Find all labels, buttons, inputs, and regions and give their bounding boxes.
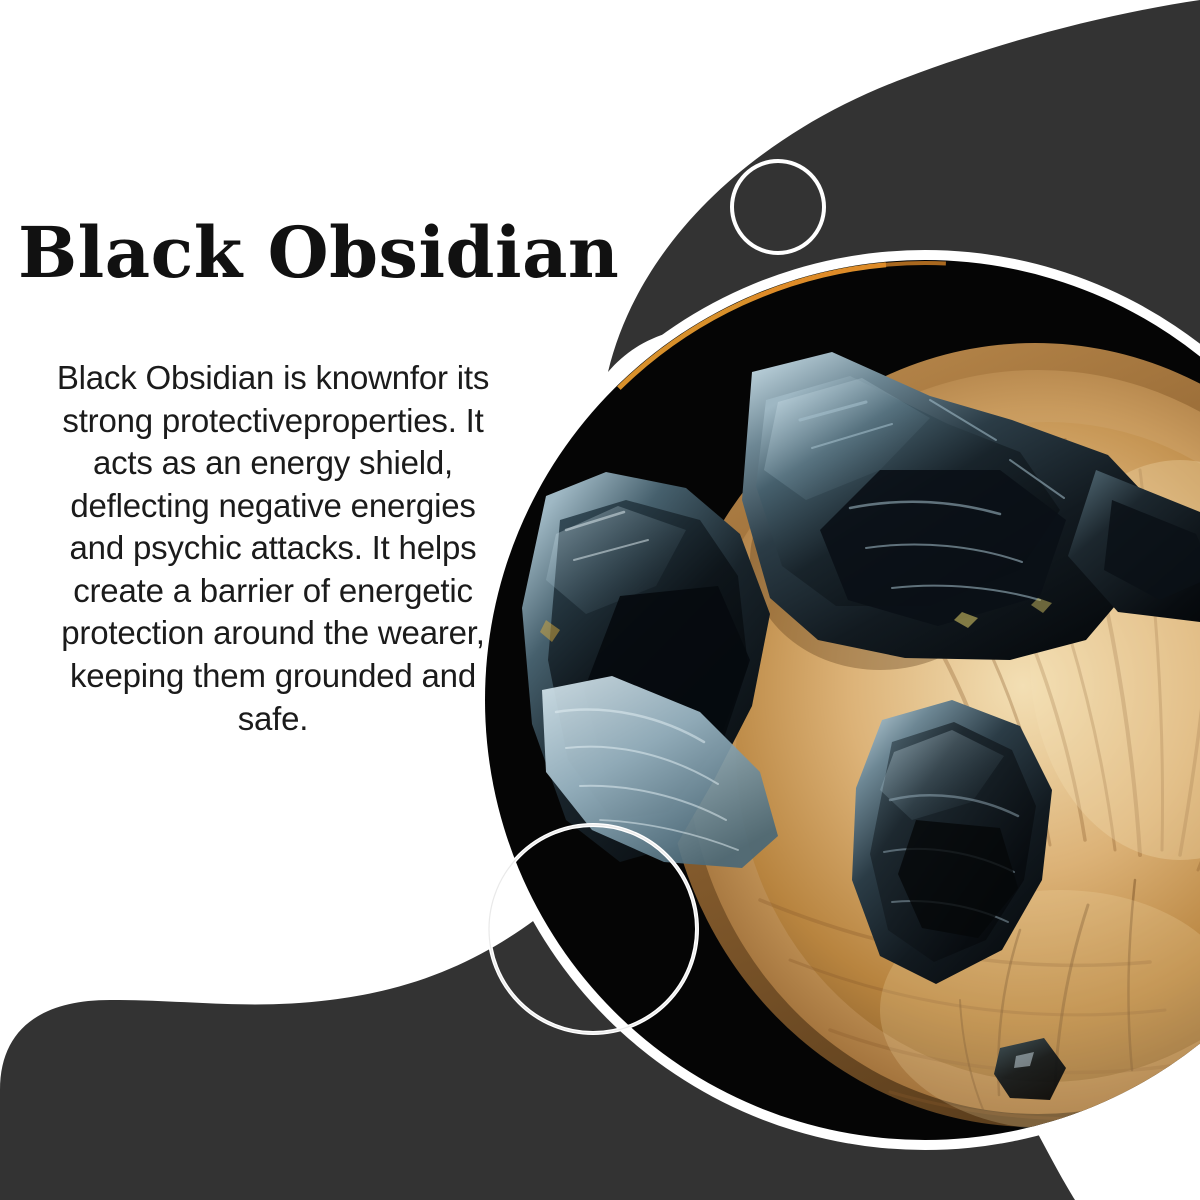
ring-outline-small — [732, 161, 824, 253]
obsidian-stone-left — [522, 472, 778, 868]
photo-rim-accent — [488, 263, 1200, 1137]
page-title: Black Obsidian — [18, 218, 619, 288]
photo-white-halo — [475, 250, 1200, 1150]
photo-rim-accent-lower — [488, 263, 1200, 1137]
description-paragraph: Black Obsidian is knownfor its strong pr… — [48, 357, 498, 740]
charcoal-blob-top-right — [608, 0, 1200, 517]
obsidian-stone-lower — [852, 700, 1052, 984]
text-column: Black Obsidian Black Obsidian is knownfo… — [0, 0, 545, 1200]
wooden-bowl — [663, 343, 1200, 1130]
photo-backdrop — [485, 260, 1200, 1140]
crystal-info-card: Black Obsidian Black Obsidian is knownfo… — [0, 0, 1200, 1200]
photo-circle — [485, 260, 1200, 1140]
obsidian-shard-small — [994, 1038, 1066, 1100]
obsidian-stone-center — [742, 352, 1200, 660]
